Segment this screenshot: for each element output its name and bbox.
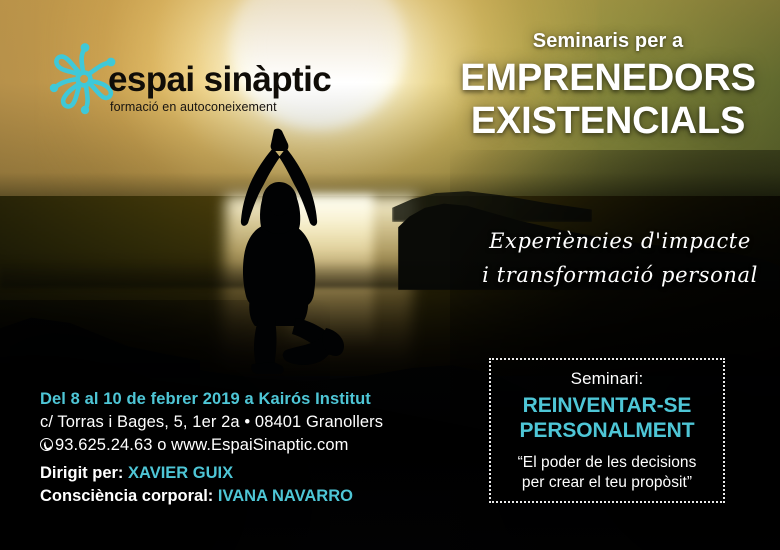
credit-body: Consciència corporal: IVANA NAVARRO	[40, 485, 470, 508]
credits-block: Dirigit per: XAVIER GUIX Consciència cor…	[40, 462, 470, 509]
credit-body-name: IVANA NAVARRO	[218, 487, 353, 505]
headline-kicker: Seminaris per a	[452, 30, 764, 53]
seminar-quote-line-1: “El poder de les decisions	[491, 453, 723, 473]
credit-director-label: Dirigit per:	[40, 464, 123, 482]
seminar-quote-line-2: per crear el teu propòsit”	[491, 473, 723, 493]
event-info-block: Del 8 al 10 de febrer 2019 a Kairós Inst…	[40, 388, 440, 456]
seminar-label: Seminari:	[491, 369, 723, 389]
seminar-box: Seminari: REINVENTAR-SE PERSONALMENT “El…	[489, 358, 725, 503]
script-line-1: Experiències d'impacte	[470, 224, 770, 258]
yoga-tree-pose-silhouette	[196, 128, 364, 374]
brand-logo[interactable]: espai sinàptic formació en autoconeixeme…	[46, 38, 296, 120]
headline-line-1: EMPRENEDORS	[452, 57, 764, 100]
headline-block: Seminaris per a EMPRENEDORS EXISTENCIALS	[452, 30, 764, 142]
credit-director-name: XAVIER GUIX	[128, 464, 233, 482]
credit-body-label: Consciència corporal:	[40, 487, 213, 505]
poster: espai sinàptic formació en autoconeixeme…	[0, 0, 780, 550]
headline-main: EMPRENEDORS EXISTENCIALS	[452, 57, 764, 142]
seminar-title-line-1: REINVENTAR-SE	[491, 394, 723, 418]
seminar-quote: “El poder de les decisions per crear el …	[491, 453, 723, 493]
seminar-title: REINVENTAR-SE PERSONALMENT	[491, 394, 723, 443]
script-tagline: Experiències d'impacte i transformació p…	[470, 224, 770, 292]
event-contact[interactable]: 93.625.24.63 o www.EspaiSinaptic.com	[55, 436, 348, 454]
headline-line-2: EXISTENCIALS	[452, 100, 764, 143]
event-contact-line: 93.625.24.63 o www.EspaiSinaptic.com	[40, 434, 440, 457]
event-dates-venue: Del 8 al 10 de febrer 2019 a Kairós Inst…	[40, 388, 440, 411]
credit-director: Dirigit per: XAVIER GUIX	[40, 462, 470, 485]
seminar-title-line-2: PERSONALMENT	[491, 419, 723, 443]
logo-tagline: formació en autoconeixement	[110, 100, 277, 114]
script-line-2: i transformació personal	[470, 258, 770, 292]
event-address: c/ Torras i Bages, 5, 1er 2a • 08401 Gra…	[40, 411, 440, 434]
telephone-icon	[40, 438, 53, 451]
logo-wordmark: espai sinàptic	[108, 60, 331, 100]
